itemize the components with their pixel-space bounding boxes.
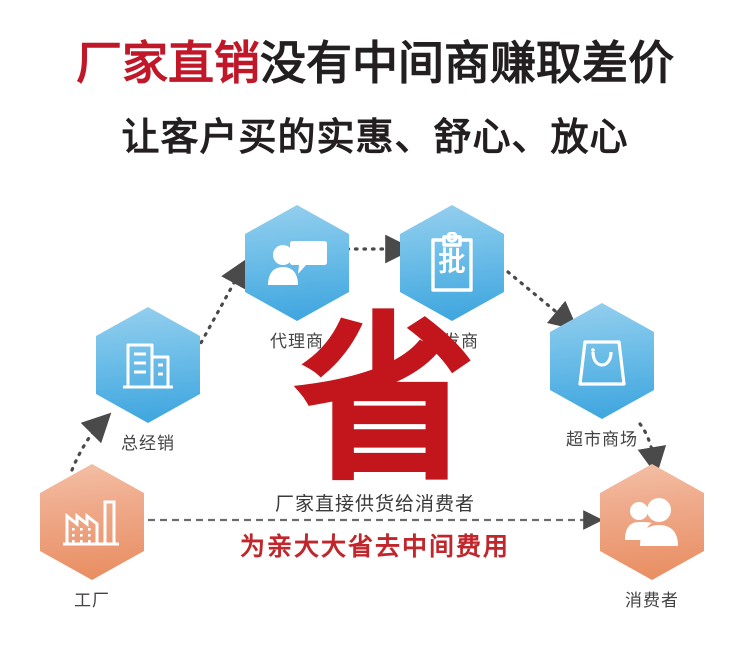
- arrow-distributor-to-agent: [197, 272, 240, 350]
- node-label-supermarket: 超市商场: [550, 425, 654, 450]
- savings-stamp: 省: [296, 318, 466, 488]
- node-label-general-distributor: 总经销: [96, 429, 200, 454]
- node-supermarket[interactable]: 超市商场: [550, 303, 654, 450]
- node-general-distributor[interactable]: 总经销: [96, 307, 200, 454]
- clipboard-pi-icon: 批: [426, 232, 478, 294]
- headline-line-2: 让客户买的实惠、舒心、放心: [0, 106, 750, 161]
- clipboard-character: 批: [426, 248, 478, 278]
- shopping-bag-icon: [574, 332, 630, 390]
- agent-chat-icon: [266, 235, 328, 291]
- headline-emphasis: 厂家直销: [76, 37, 260, 89]
- promo-banner: 厂家直销没有中间商赚取差价 让客户买的实惠、舒心、放心: [0, 0, 750, 659]
- node-label-factory: 工厂: [40, 586, 144, 611]
- headline-line-1: 厂家直销没有中间商赚取差价: [0, 40, 750, 86]
- building-icon: [120, 337, 176, 393]
- node-label-consumer: 消费者: [600, 586, 704, 611]
- hexagon-supermarket: [550, 303, 654, 419]
- headline-rest: 没有中间商赚取差价: [260, 37, 674, 89]
- caption-savings: 为亲大大省去中间费用: [0, 527, 750, 563]
- caption-direct-supply: 厂家直接供货给消费者: [0, 489, 750, 516]
- headline-block: 厂家直销没有中间商赚取差价: [0, 40, 750, 86]
- hexagon-general-distributor: [96, 307, 200, 423]
